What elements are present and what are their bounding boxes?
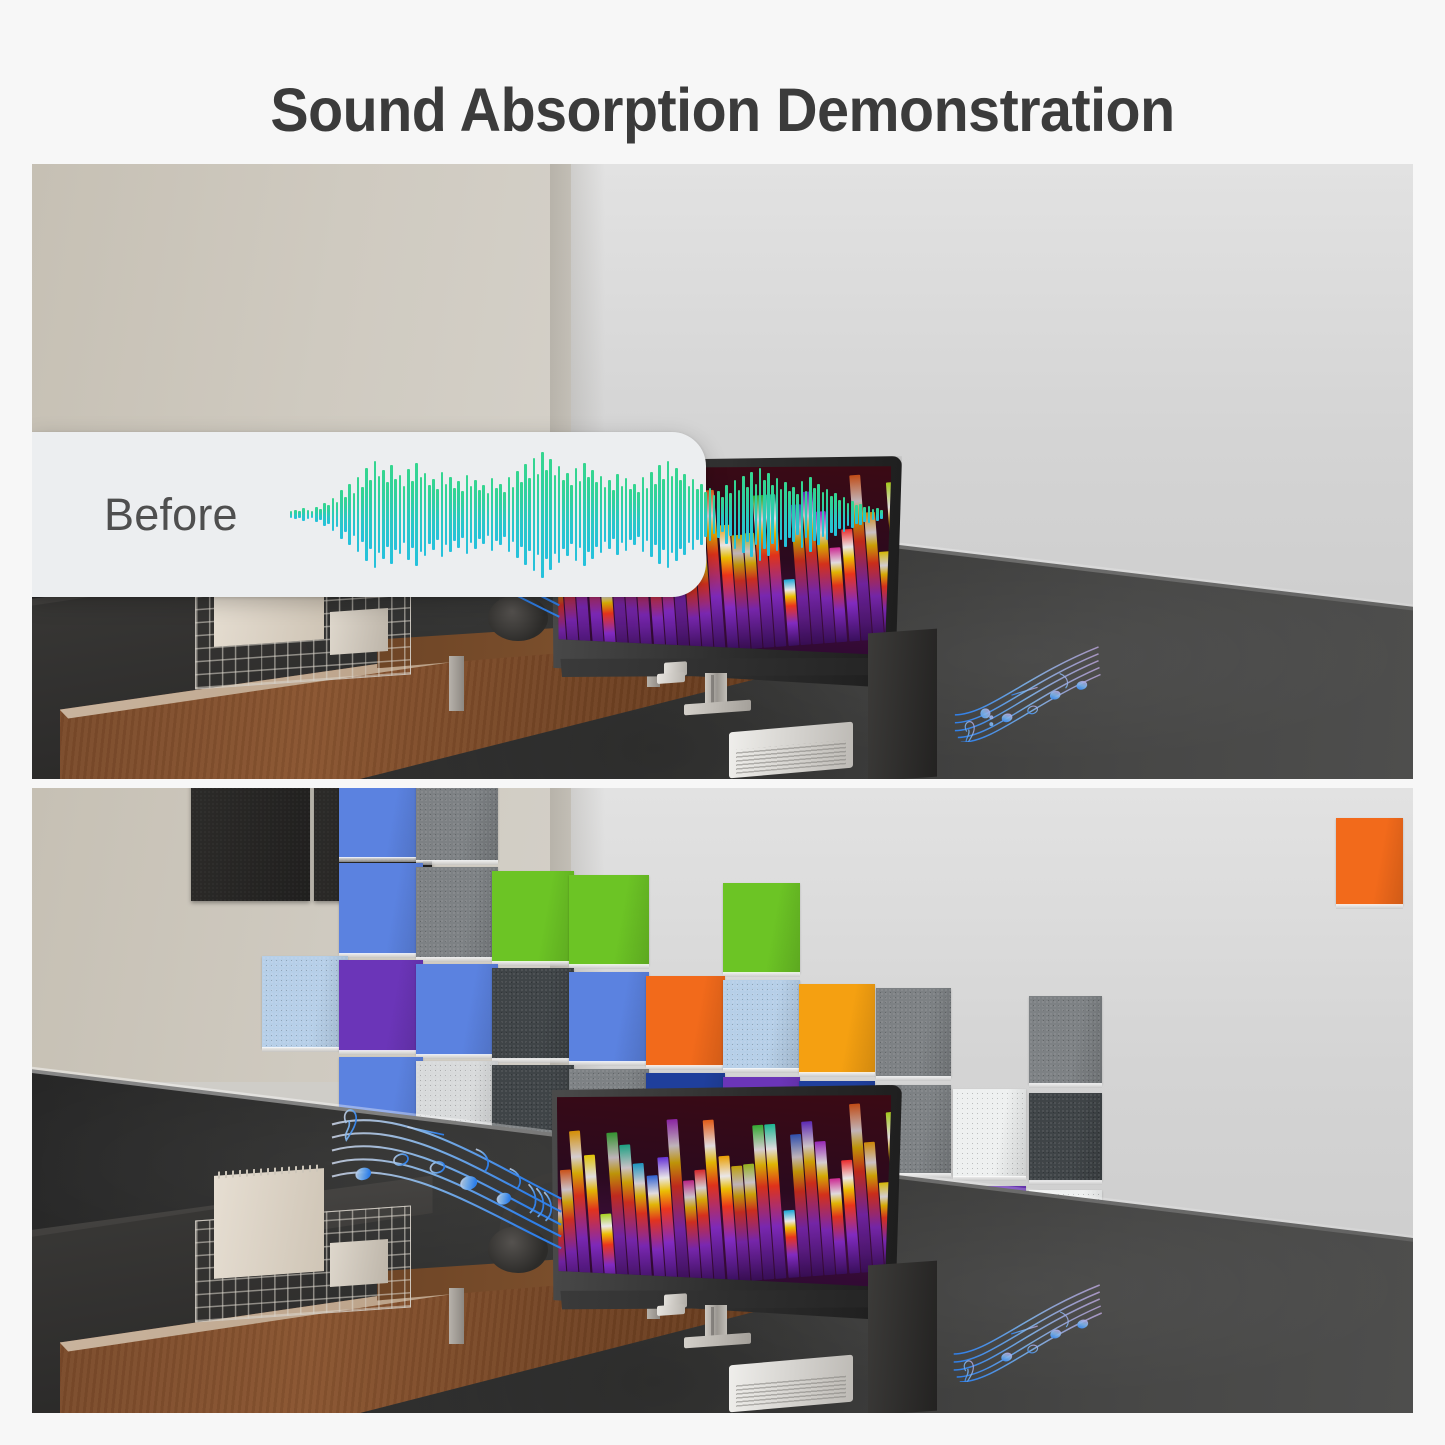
acoustic-panel-face bbox=[339, 863, 423, 954]
acoustic-panel-face bbox=[646, 976, 725, 1066]
acoustic-panel-edge bbox=[416, 1054, 499, 1059]
notepad-treated bbox=[214, 1169, 324, 1280]
acoustic-panel-edge bbox=[339, 1050, 423, 1055]
curved-monitor-treated bbox=[550, 1085, 902, 1341]
acoustic-panel-face bbox=[339, 788, 423, 858]
pc-tower-treated bbox=[868, 1261, 937, 1413]
acoustic-panel-edge bbox=[723, 1068, 801, 1073]
acoustic-panel-tile bbox=[492, 871, 573, 961]
acoustic-panel-tile bbox=[416, 964, 499, 1055]
treated-room-scene bbox=[32, 788, 1413, 1413]
acoustic-panel-face bbox=[416, 964, 499, 1055]
acoustic-panel-face bbox=[569, 972, 649, 1062]
acoustic-panel-tile bbox=[646, 976, 725, 1066]
before-scene-panel: Before bbox=[32, 164, 1413, 779]
acoustic-panel-tile bbox=[799, 984, 875, 1073]
acoustic-panel-edge bbox=[723, 972, 801, 977]
acoustic-panel-face bbox=[492, 871, 573, 961]
monitor-screen-treated bbox=[557, 1095, 892, 1295]
acoustic-panel-tile bbox=[876, 988, 951, 1077]
acoustic-panel-edge bbox=[569, 1061, 649, 1066]
acoustic-panel-edge bbox=[492, 961, 573, 966]
wall-left bbox=[32, 164, 571, 453]
acoustic-panel-face bbox=[262, 956, 347, 1047]
acoustic-panel-edge bbox=[416, 957, 499, 962]
acoustic-panel-tile bbox=[1029, 1093, 1101, 1181]
dark-acoustic-panel bbox=[191, 788, 310, 901]
acoustic-panel-edge bbox=[1029, 1083, 1101, 1088]
acoustic-panel-edge bbox=[1336, 904, 1403, 909]
acoustic-panel-edge bbox=[339, 953, 423, 958]
acoustic-panel-tile bbox=[569, 875, 649, 965]
basket-small-box-treated bbox=[330, 1239, 388, 1287]
before-label-card: Before bbox=[32, 432, 706, 597]
acoustic-panel-edge bbox=[492, 1058, 573, 1063]
before-waveform bbox=[290, 432, 883, 597]
acoustic-panel-tile bbox=[1029, 996, 1101, 1084]
acoustic-panel-tile bbox=[492, 968, 573, 1058]
acoustic-panel-face bbox=[876, 988, 951, 1077]
acoustic-panel-face bbox=[492, 968, 573, 1058]
acoustic-panel-tile bbox=[339, 863, 423, 954]
acoustic-panel-edge bbox=[799, 1072, 875, 1077]
acoustic-panel-edge bbox=[876, 1076, 951, 1081]
acoustic-panel-face bbox=[953, 1089, 1027, 1177]
acoustic-panel-edge bbox=[1029, 1180, 1101, 1185]
riser-leg-left-treated bbox=[449, 1288, 464, 1344]
acoustic-panel-edge bbox=[646, 1065, 725, 1070]
acoustic-panel-face bbox=[569, 875, 649, 965]
acoustic-panel-face bbox=[416, 788, 499, 861]
acoustic-panel-tile bbox=[416, 867, 499, 958]
acoustic-panel-face bbox=[1336, 818, 1403, 904]
acoustic-panel-tile bbox=[569, 972, 649, 1062]
acoustic-panel-face bbox=[1029, 996, 1101, 1084]
acoustic-panel-face bbox=[723, 980, 801, 1069]
acoustic-panel-edge bbox=[262, 1047, 347, 1052]
pc-tower bbox=[868, 629, 937, 779]
headphones-earcup-left-treated bbox=[488, 1226, 549, 1274]
acoustic-panel-tile bbox=[262, 956, 347, 1047]
monitor-mount-clamp bbox=[657, 672, 685, 684]
acoustic-panel-tile bbox=[723, 980, 801, 1069]
acoustic-panel-face bbox=[339, 960, 423, 1051]
acoustic-panel-tile bbox=[339, 788, 423, 858]
acoustic-panel-edge bbox=[416, 860, 499, 865]
acoustic-panel-edge bbox=[569, 964, 649, 969]
acoustic-panel-edge bbox=[339, 857, 423, 862]
acoustic-panel-tile bbox=[953, 1089, 1027, 1177]
page-title: Sound Absorption Demonstration bbox=[43, 78, 1401, 142]
acoustic-panel-face bbox=[799, 984, 875, 1073]
acoustic-panel-face bbox=[416, 867, 499, 958]
acoustic-panel-face bbox=[1029, 1093, 1101, 1181]
after-scene-panel: After bbox=[32, 788, 1413, 1413]
acoustic-panel-tile bbox=[1336, 818, 1403, 904]
equalizer-visualization-treated bbox=[557, 1095, 892, 1295]
acoustic-panel-tile bbox=[339, 960, 423, 1051]
acoustic-panel-tile bbox=[416, 788, 499, 861]
acoustic-panel-edge bbox=[953, 1176, 1027, 1181]
riser-leg-left bbox=[449, 656, 464, 711]
acoustic-panel-face bbox=[723, 883, 801, 972]
before-label: Before bbox=[104, 489, 238, 541]
basket-small-box bbox=[330, 608, 388, 655]
demonstration-page: Sound Absorption Demonstration bbox=[0, 0, 1445, 1445]
monitor-mount-clamp-treated bbox=[657, 1304, 685, 1316]
acoustic-panel-tile bbox=[723, 883, 801, 972]
